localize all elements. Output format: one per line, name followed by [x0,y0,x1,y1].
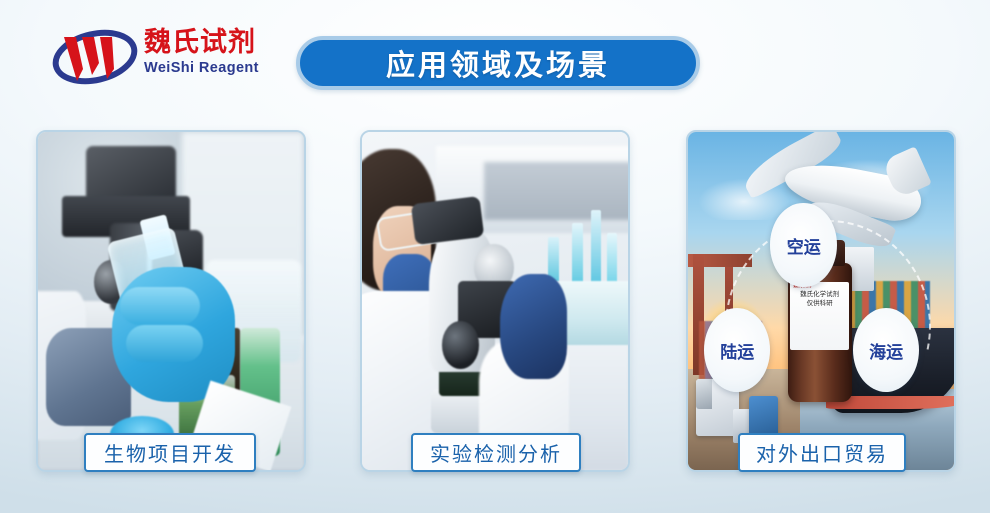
caption-lab-testing-analysis: 实验检测分析 [411,433,581,472]
bio-project-photo [38,132,304,470]
card-bio-project-development[interactable] [36,130,306,472]
badge-sea-freight: 海运 [853,308,920,393]
card-lab-testing-analysis[interactable] [360,130,630,472]
slide-root: 魏氏试剂 WeiShi Reagent 应用领域及场景 [0,0,990,513]
cards-row: 生物项目开发 [0,0,990,513]
caption-label: 对外出口贸易 [756,438,888,467]
caption-export-trade: 对外出口贸易 [738,433,906,472]
badge-land-label: 陆运 [720,338,754,363]
caption-bio-project-development: 生物项目开发 [84,433,256,472]
reagent-bottle-label: 魏氏试剂 魏氏化学试剂 仅供科研 [790,282,849,350]
lab-testing-photo [362,132,628,470]
bottle-label-line2: 仅供科研 [807,299,833,308]
export-logistics-photo: 魏氏试剂 魏氏化学试剂 仅供科研 空运 陆运 海运 [688,132,954,470]
caption-label: 生物项目开发 [104,438,236,467]
badge-air-freight: 空运 [770,203,837,288]
card-export-trade[interactable]: 魏氏试剂 魏氏化学试剂 仅供科研 空运 陆运 海运 [686,130,956,472]
badge-sea-label: 海运 [869,338,903,363]
caption-label: 实验检测分析 [430,438,562,467]
bottle-label-line1: 魏氏化学试剂 [800,290,839,299]
badge-air-label: 空运 [787,233,821,258]
